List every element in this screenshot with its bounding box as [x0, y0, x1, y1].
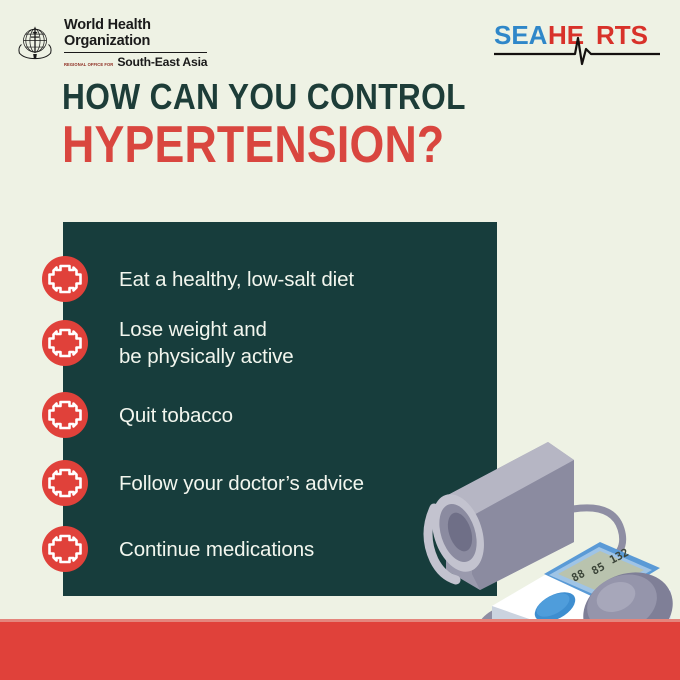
list-item: Continue medications: [42, 526, 314, 572]
list-item: Lose weight and be physically active: [42, 316, 294, 370]
who-logo: World Health Organization REGIONAL OFFIC…: [12, 18, 207, 69]
infographic-poster: World Health Organization REGIONAL OFFIC…: [0, 0, 680, 680]
tip-label: Follow your doctor’s advice: [119, 470, 364, 497]
sea-hearts-sea-text: SEA: [494, 20, 548, 50]
sea-hearts-logo: SEA HE RTS: [492, 16, 662, 68]
title-line-2: HYPERTENSION?: [62, 118, 457, 172]
list-item: Follow your doctor’s advice: [42, 460, 364, 506]
who-region-name: South-East Asia: [117, 55, 207, 69]
title-line-1: HOW CAN YOU CONTROL: [62, 78, 466, 116]
who-emblem-icon: [12, 19, 58, 65]
tip-label: Eat a healthy, low-salt diet: [119, 266, 354, 293]
medical-cross-icon: [42, 526, 88, 572]
medical-cross-icon: [42, 320, 88, 366]
who-region-prefix: REGIONAL OFFICE FOR: [64, 62, 113, 67]
tip-label: Quit tobacco: [119, 402, 233, 429]
medical-cross-icon: [42, 392, 88, 438]
medical-cross-icon: [42, 256, 88, 302]
who-region: REGIONAL OFFICE FOR South-East Asia: [64, 52, 207, 69]
list-item: Quit tobacco: [42, 392, 233, 438]
tip-label: Lose weight and be physically active: [119, 316, 294, 370]
who-name-line2: Organization: [64, 34, 207, 50]
rolled-arm-cuff: [423, 442, 574, 590]
list-item: Eat a healthy, low-salt diet: [42, 256, 354, 302]
who-wordmark: World Health Organization REGIONAL OFFIC…: [64, 18, 207, 69]
who-name-line1: World Health: [64, 18, 207, 34]
tip-label: Continue medications: [119, 536, 314, 563]
sea-hearts-rts-text: RTS: [596, 20, 648, 50]
medical-cross-icon: [42, 460, 88, 506]
page-title: HOW CAN YOU CONTROL HYPERTENSION?: [62, 78, 521, 172]
bottom-bar: [0, 622, 680, 680]
